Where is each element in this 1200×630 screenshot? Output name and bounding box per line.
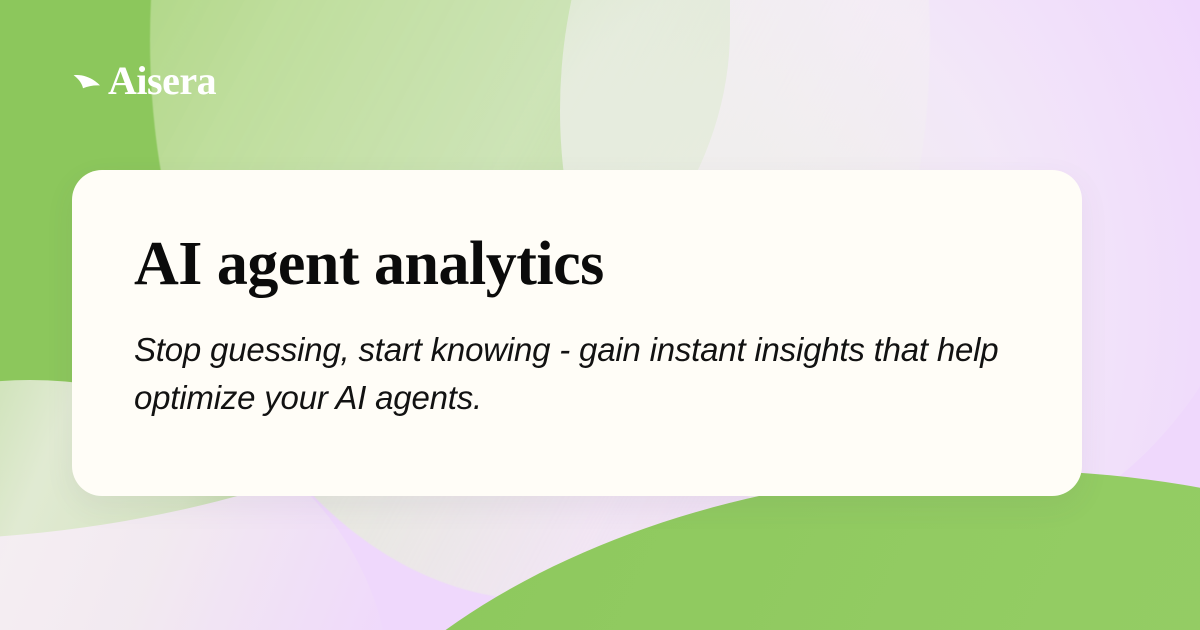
page-subtitle: Stop guessing, start knowing - gain inst… (134, 326, 1022, 422)
page-title: AI agent analytics (134, 232, 1022, 298)
promo-banner: Aisera AI agent analytics Stop guessing,… (0, 0, 1200, 630)
brand-name: Aisera (108, 61, 216, 101)
content-card: AI agent analytics Stop guessing, start … (72, 170, 1082, 496)
brand-logo: Aisera (72, 60, 216, 102)
aisera-swoosh-icon (72, 68, 102, 94)
